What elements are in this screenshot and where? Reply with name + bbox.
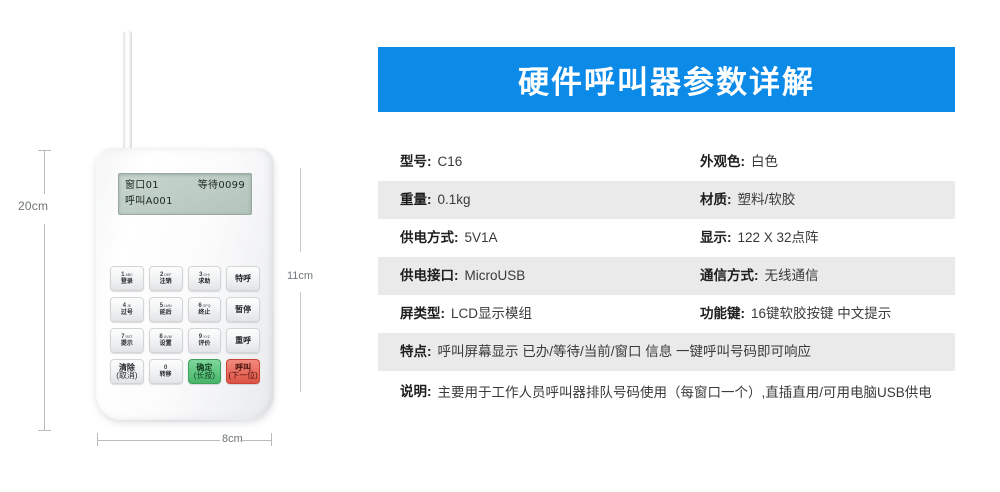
- keypad-key-4-过号[interactable]: 4JK过号: [110, 297, 144, 322]
- width-dimension-cap-right: [271, 433, 272, 446]
- product-image-pane: 20cm 11cm 8cm 窗口01 等待0099 呼叫A001 1ABC登录2…: [0, 0, 360, 492]
- spec-row: 重量:0.1kg材质:塑料/软胶: [378, 181, 955, 219]
- keypad[interactable]: 1ABC登录2DEF注销3GHI求助特呼4JK过号5LMN延后6OPQ终止暂停7…: [110, 266, 260, 384]
- key-label: 登录: [121, 278, 133, 286]
- spec-field-note-label: 说明:: [400, 382, 432, 402]
- spec-row-note: 说明:主要用于工作人员呼叫器排队号码使用（每窗口一个）,直插直用/可用电脑USB…: [378, 371, 955, 429]
- keypad-key-7-提示[interactable]: 7RST提示: [110, 328, 144, 353]
- height-dimension-line-bottom: [44, 224, 45, 430]
- key-label: 特呼: [235, 275, 251, 283]
- spec-field-right-label: 材质:: [700, 190, 732, 210]
- spec-field-feature-value: 呼叫屏幕显示 已办/等待/当前/窗口 信息 一键呼叫号码即可响应: [438, 342, 812, 362]
- spec-field-right-label: 通信方式:: [700, 266, 759, 286]
- key-label: 暂停: [235, 306, 251, 314]
- spec-field-left-value: 0.1kg: [438, 190, 471, 210]
- spec-table: 型号:C16外观色:白色重量:0.1kg材质:塑料/软胶供电方式:5V1A显示:…: [378, 143, 955, 429]
- keypad-key-呼叫[interactable]: 呼叫(下一位): [226, 359, 260, 384]
- spec-field-right: 显示:122 X 32点阵: [700, 228, 955, 248]
- spec-field-left: 屏类型:LCD显示模组: [400, 304, 700, 324]
- keypad-key-特呼[interactable]: 特呼: [226, 266, 260, 291]
- spec-field-left-label: 供电接口:: [400, 266, 459, 286]
- spec-field-left: 重量:0.1kg: [400, 190, 700, 210]
- depth-dimension-line-top: [300, 168, 301, 252]
- spec-row: 供电接口:MicroUSB通信方式:无线通信: [378, 257, 955, 295]
- keypad-key-8-设置[interactable]: 8UVW设置: [149, 328, 183, 353]
- spec-field-right: 外观色:白色: [700, 152, 955, 172]
- keypad-key-9-评价[interactable]: 9XYZ评价: [188, 328, 222, 353]
- key-label: 重呼: [235, 337, 251, 345]
- spec-field-left-label: 供电方式:: [400, 228, 459, 248]
- spec-field-left: 供电接口:MicroUSB: [400, 266, 700, 286]
- key-label: 注销: [160, 278, 172, 286]
- spec-field-right-value: 白色: [751, 152, 778, 172]
- depth-dimension-label: 11cm: [287, 270, 313, 282]
- height-dimension-cap-bottom: [38, 430, 51, 431]
- height-dimension-line-top: [44, 150, 45, 194]
- spec-field-left-label: 型号:: [400, 152, 432, 172]
- width-dimension-line-left: [97, 440, 220, 441]
- keypad-key-6-终止[interactable]: 6OPQ终止: [188, 297, 222, 322]
- key-label: 设置: [160, 340, 172, 348]
- keypad-key-确定[interactable]: 确定(长按): [188, 359, 222, 384]
- keypad-key-5-延后[interactable]: 5LMN延后: [149, 297, 183, 322]
- key-label: 转移: [160, 371, 172, 379]
- spec-field-right-label: 外观色:: [700, 152, 745, 172]
- height-dimension-label: 20cm: [18, 199, 48, 213]
- lcd-waiting-label: 等待0099: [198, 178, 245, 194]
- spec-field-left-value: 5V1A: [465, 228, 498, 248]
- spec-field-left-value: MicroUSB: [465, 266, 526, 286]
- spec-field-left-value: LCD显示模组: [451, 304, 532, 324]
- lcd-window-label: 窗口01: [125, 178, 159, 194]
- key-sublabel: (下一位): [228, 372, 257, 380]
- key-label: 终止: [198, 309, 210, 317]
- spec-field-note-value: 主要用于工作人员呼叫器排队号码使用（每窗口一个）,直插直用/可用电脑USB供电: [438, 382, 932, 403]
- spec-field-feature: 特点:呼叫屏幕显示 已办/等待/当前/窗口 信息 一键呼叫号码即可响应: [400, 342, 955, 362]
- spec-field-right-value: 122 X 32点阵: [738, 228, 819, 248]
- spec-field-right: 材质:塑料/软胶: [700, 190, 955, 210]
- key-sublabel: (取消): [116, 372, 137, 380]
- title-banner: 硬件呼叫器参数详解: [378, 47, 955, 112]
- lcd-spacer: [159, 178, 198, 194]
- lcd-calling-label: 呼叫A001: [125, 194, 173, 210]
- key-label: 延后: [160, 309, 172, 317]
- spec-field-left-label: 屏类型:: [400, 304, 445, 324]
- spec-row-feature: 特点:呼叫屏幕显示 已办/等待/当前/窗口 信息 一键呼叫号码即可响应: [378, 333, 955, 371]
- spec-field-left: 供电方式:5V1A: [400, 228, 700, 248]
- lcd-screen: 窗口01 等待0099 呼叫A001: [118, 173, 252, 215]
- spec-field-right-value: 无线通信: [765, 266, 819, 286]
- keypad-key-暂停[interactable]: 暂停: [226, 297, 260, 322]
- spec-field-right-label: 功能键:: [700, 304, 745, 324]
- spec-field-right-value: 16键软胶按键 中文提示: [751, 304, 891, 324]
- spec-field-right-label: 显示:: [700, 228, 732, 248]
- spec-row: 供电方式:5V1A显示:122 X 32点阵: [378, 219, 955, 257]
- width-dimension-line-right: [240, 440, 272, 441]
- key-sublabel: (长按): [194, 372, 215, 380]
- page-title: 硬件呼叫器参数详解: [518, 57, 815, 102]
- key-label: 提示: [121, 340, 133, 348]
- spec-pane: 硬件呼叫器参数详解 型号:C16外观色:白色重量:0.1kg材质:塑料/软胶供电…: [378, 0, 955, 492]
- spec-field-note: 说明:主要用于工作人员呼叫器排队号码使用（每窗口一个）,直插直用/可用电脑USB…: [400, 382, 955, 403]
- key-label: 评价: [198, 340, 210, 348]
- spec-field-feature-label: 特点:: [400, 342, 432, 362]
- spec-field-left: 型号:C16: [400, 152, 700, 172]
- caller-device-body: 窗口01 等待0099 呼叫A001 1ABC登录2DEF注销3GHI求助特呼4…: [96, 148, 274, 420]
- keypad-key-清除[interactable]: 清除(取消): [110, 359, 144, 384]
- antenna: [123, 30, 132, 155]
- keypad-key-0-转移[interactable]: 0转移: [149, 359, 183, 384]
- lcd-line-1: 窗口01 等待0099: [125, 178, 245, 194]
- spec-field-left-label: 重量:: [400, 190, 432, 210]
- key-label: 求助: [198, 278, 210, 286]
- spec-field-left-value: C16: [438, 152, 463, 172]
- key-label: 过号: [121, 309, 133, 317]
- keypad-key-重呼[interactable]: 重呼: [226, 328, 260, 353]
- keypad-key-3-求助[interactable]: 3GHI求助: [188, 266, 222, 291]
- spec-row: 屏类型:LCD显示模组功能键:16键软胶按键 中文提示: [378, 295, 955, 333]
- spec-field-right: 通信方式:无线通信: [700, 266, 955, 286]
- lcd-line-2: 呼叫A001: [125, 194, 245, 210]
- spec-field-right-value: 塑料/软胶: [738, 190, 796, 210]
- keypad-key-1-登录[interactable]: 1ABC登录: [110, 266, 144, 291]
- keypad-key-2-注销[interactable]: 2DEF注销: [149, 266, 183, 291]
- depth-dimension-line-bottom: [300, 292, 301, 392]
- spec-field-right: 功能键:16键软胶按键 中文提示: [700, 304, 955, 324]
- width-dimension-label: 8cm: [222, 433, 243, 445]
- spec-row: 型号:C16外观色:白色: [378, 143, 955, 181]
